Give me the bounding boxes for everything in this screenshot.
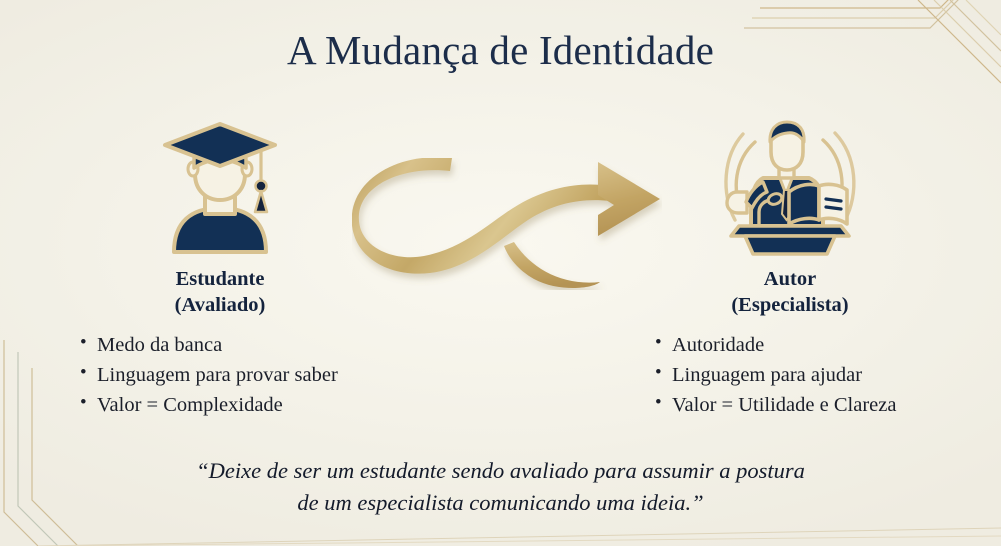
- list-item: Linguagem para provar saber: [80, 360, 500, 390]
- right-bullet-list: Autoridade Linguagem para ajudar Valor =…: [655, 330, 995, 420]
- list-item: Linguagem para ajudar: [655, 360, 995, 390]
- right-column: Autor (Especialista): [625, 118, 955, 318]
- left-role-label: Estudante (Avaliado): [55, 266, 385, 318]
- list-item: Medo da banca: [80, 330, 500, 360]
- right-role-label: Autor (Especialista): [625, 266, 955, 318]
- left-column: Estudante (Avaliado): [55, 118, 385, 318]
- speaker-podium-icon: [625, 118, 955, 258]
- list-item: Valor = Complexidade: [80, 390, 500, 420]
- list-item: Autoridade: [655, 330, 995, 360]
- slide-canvas: A Mudança de Identidade: [0, 0, 1001, 546]
- graduate-student-icon: [55, 118, 385, 258]
- slide-title: A Mudança de Identidade: [0, 28, 1001, 73]
- list-item: Valor = Utilidade e Clareza: [655, 390, 995, 420]
- infinity-arrow-icon: [352, 158, 662, 290]
- quote-line-1: “Deixe de ser um estudante sendo avaliad…: [100, 455, 901, 487]
- left-bullet-list: Medo da banca Linguagem para provar sabe…: [80, 330, 500, 420]
- quote-line-2: de um especialista comunicando uma ideia…: [100, 487, 901, 519]
- closing-quote: “Deixe de ser um estudante sendo avaliad…: [100, 455, 901, 520]
- left-role-name: Estudante: [176, 268, 265, 290]
- right-role-sub: (Especialista): [625, 292, 955, 318]
- right-role-name: Autor: [764, 268, 816, 290]
- left-role-sub: (Avaliado): [55, 292, 385, 318]
